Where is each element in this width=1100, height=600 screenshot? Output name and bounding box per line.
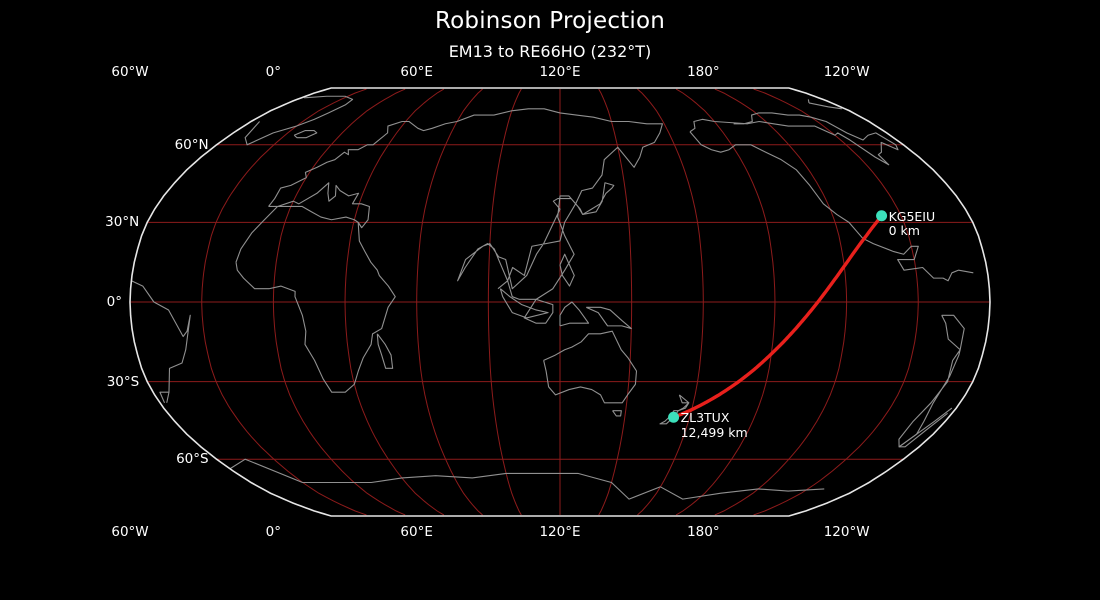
coastline-9 xyxy=(544,331,637,403)
coastline-14 xyxy=(560,302,589,326)
map-canvas: Robinson Projection EM13 to RE66HO (232°… xyxy=(0,0,1100,600)
lon-tick-bottom-3: 120°W xyxy=(824,524,870,540)
path-segment xyxy=(674,216,882,418)
station-marker-ZL3TUX[interactable] xyxy=(668,412,679,423)
station-markers[interactable] xyxy=(668,210,887,423)
coastline-2 xyxy=(808,99,809,103)
station-label-ZL3TUX: ZL3TUX12,499 km xyxy=(681,411,748,440)
lon-tick-bottom-0: 60°E xyxy=(400,524,432,540)
lat-tick-3: 30°S xyxy=(0,374,139,390)
coastline-4 xyxy=(269,109,663,300)
graticule-lines xyxy=(130,89,990,515)
coastline-16 xyxy=(560,254,574,286)
great-circle-path[interactable] xyxy=(674,216,882,418)
lon-tick-top-0: 60°E xyxy=(400,64,432,80)
coastline-8 xyxy=(377,334,392,369)
station-distance: 12,499 km xyxy=(681,426,748,440)
lon-tick-bottom-1: 120°E xyxy=(539,524,580,540)
coastline-17 xyxy=(583,183,614,215)
lat-tick-4: 60°S xyxy=(0,451,209,467)
coastline-0 xyxy=(131,281,190,403)
lon-tick-top-4: 60°W xyxy=(111,64,148,80)
coastline-3 xyxy=(294,131,317,138)
station-distance: 0 km xyxy=(889,224,936,238)
robinson-map xyxy=(0,0,1100,600)
lon-tick-top-5: 0° xyxy=(266,64,281,80)
coastline-19 xyxy=(942,315,965,349)
coastline-6 xyxy=(236,206,278,262)
coastline-15 xyxy=(586,307,631,328)
coastline-7 xyxy=(236,222,395,392)
lon-tick-top-1: 120°E xyxy=(539,64,580,80)
coastline-12 xyxy=(500,289,548,318)
coastline-13 xyxy=(524,299,553,323)
coastline-20 xyxy=(230,459,660,499)
lon-tick-top-2: 180° xyxy=(687,64,720,80)
lon-tick-bottom-4: 60°W xyxy=(111,524,148,540)
coastline-20 xyxy=(660,487,824,499)
lon-tick-top-3: 120°W xyxy=(824,64,870,80)
coastline-10 xyxy=(613,411,622,416)
station-callsign: KG5EIU xyxy=(889,210,936,224)
lat-tick-0: 60°N xyxy=(0,137,209,153)
lat-tick-1: 30°N xyxy=(0,214,139,230)
station-label-KG5EIU: KG5EIU0 km xyxy=(889,210,936,239)
station-marker-KG5EIU[interactable] xyxy=(876,210,887,221)
station-callsign: ZL3TUX xyxy=(681,411,748,425)
coastline-18 xyxy=(899,350,960,447)
lon-tick-bottom-2: 180° xyxy=(687,524,720,540)
lon-tick-bottom-5: 0° xyxy=(266,524,281,540)
coastline-0 xyxy=(690,132,973,281)
lat-tick-2: 0° xyxy=(0,294,122,310)
